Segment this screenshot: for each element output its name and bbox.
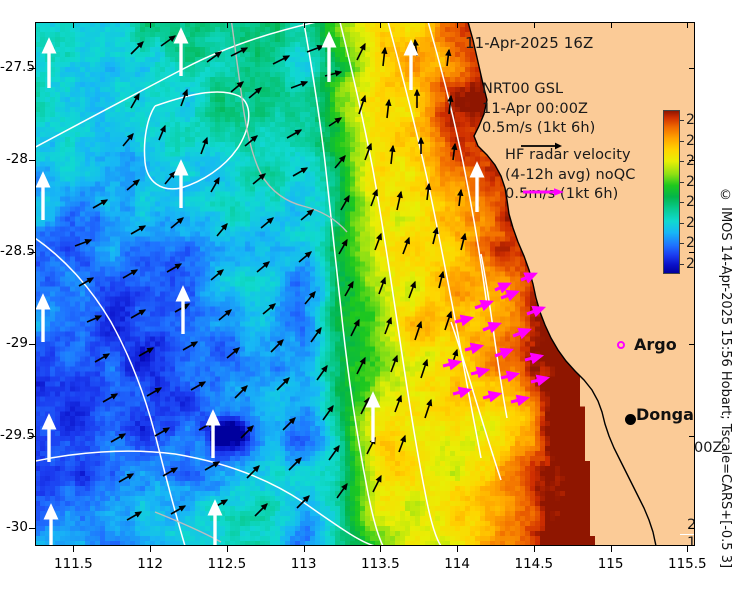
x-tick-top <box>150 22 151 28</box>
colorbar-tick-label: 27 <box>686 133 695 149</box>
nrt-legend-block: NRT00 GSL 11-Apr 00:00Z 0.5m/s (1kt 6h) <box>482 80 595 139</box>
x-tick-top <box>687 22 688 28</box>
x-tick-top <box>304 22 305 28</box>
clipped-time-label: 00Z <box>694 440 722 456</box>
x-tick <box>380 546 381 552</box>
y-tick-right <box>689 68 695 69</box>
x-tick <box>73 546 74 552</box>
colorbar-tick-label: 22 <box>686 235 695 251</box>
x-tick-label: 115 <box>581 556 641 572</box>
argo-marker-icon <box>617 341 625 349</box>
hf-reference-arrow-icon <box>521 186 565 197</box>
x-tick <box>304 546 305 552</box>
x-tick-top <box>73 22 74 28</box>
x-tick-top <box>534 22 535 28</box>
colorbar-tick-label: 26 <box>686 153 695 169</box>
datestamp-label: 11-Apr-2025 16Z <box>465 34 593 52</box>
y-tick-label: -27.5 <box>0 59 28 75</box>
x-tick-label: 114 <box>427 556 487 572</box>
y-tick-right <box>689 252 695 253</box>
x-tick-label: 115.5 <box>657 556 717 572</box>
colorbar-tick-label: 21 <box>686 256 695 272</box>
y-tick-label: -29 <box>0 335 28 351</box>
hf-line-1: HF radar velocity <box>505 146 636 166</box>
figure-root: 11-Apr-2025 16Z NRT00 GSL 11-Apr 00:00Z … <box>0 0 740 592</box>
colorbar <box>663 110 680 274</box>
y-tick-right <box>689 436 695 437</box>
y-tick <box>29 528 35 529</box>
x-tick-label: 111.5 <box>43 556 103 572</box>
colorbar-tick <box>680 243 684 244</box>
nrt-line-2: 11-Apr 00:00Z <box>482 100 595 120</box>
current-vectors <box>35 22 695 546</box>
nrt-line-1: NRT00 GSL <box>482 80 595 100</box>
x-tick-label: 112.5 <box>197 556 257 572</box>
colorbar-tick-label: 28 <box>686 112 695 128</box>
hf-line-2: (4-12h avg) noQC <box>505 166 636 186</box>
y-tick-right <box>689 160 695 161</box>
x-tick-top <box>457 22 458 28</box>
dongara-label: Dongara <box>636 405 695 424</box>
colorbar-tick <box>680 202 684 203</box>
colorbar-tick <box>680 182 684 183</box>
colorbar-tick <box>680 120 684 121</box>
colorbar-tick-label: 24 <box>686 194 695 210</box>
y-tick-label: -28.5 <box>0 243 28 259</box>
y-tick <box>29 160 35 161</box>
x-tick <box>687 546 688 552</box>
dongara-marker-icon <box>625 414 636 425</box>
y-tick-right <box>689 344 695 345</box>
x-tick <box>534 546 535 552</box>
x-tick-top <box>227 22 228 28</box>
depth-legend-line-200m <box>680 534 695 535</box>
colorbar-tick-label: 25 <box>686 174 695 190</box>
depth-label-1000m: 1000m <box>687 534 695 546</box>
colorbar-tick <box>680 264 684 265</box>
depth-legend: 200m 1000m <box>687 516 695 546</box>
colorbar-tick <box>680 141 684 142</box>
y-tick-right <box>689 528 695 529</box>
argo-legend: Argo <box>617 335 677 354</box>
nrt-line-3: 0.5m/s (1kt 6h) <box>482 119 595 139</box>
x-tick-label: 112 <box>120 556 180 572</box>
x-tick <box>227 546 228 552</box>
credit-caption: © IMOS 14-Apr-2025 15:56 Hobart; Tscale=… <box>718 188 733 568</box>
colorbar-tick-label: 23 <box>686 215 695 231</box>
x-tick-top <box>611 22 612 28</box>
y-tick-label: -29.5 <box>0 427 28 443</box>
colorbar-tick <box>680 223 684 224</box>
y-tick-label: -28 <box>0 151 28 167</box>
colorbar-tick <box>680 161 684 162</box>
depth-label-200m: 200m <box>687 516 695 534</box>
x-tick <box>150 546 151 552</box>
map-panel[interactable]: 11-Apr-2025 16Z NRT00 GSL 11-Apr 00:00Z … <box>35 22 695 546</box>
x-tick-label: 113 <box>274 556 334 572</box>
x-tick-label: 113.5 <box>350 556 410 572</box>
x-tick <box>611 546 612 552</box>
x-tick-top <box>380 22 381 28</box>
x-tick <box>457 546 458 552</box>
x-tick-label: 114.5 <box>504 556 564 572</box>
y-tick-label: -30 <box>0 519 28 535</box>
argo-label: Argo <box>634 335 677 354</box>
y-tick <box>29 344 35 345</box>
